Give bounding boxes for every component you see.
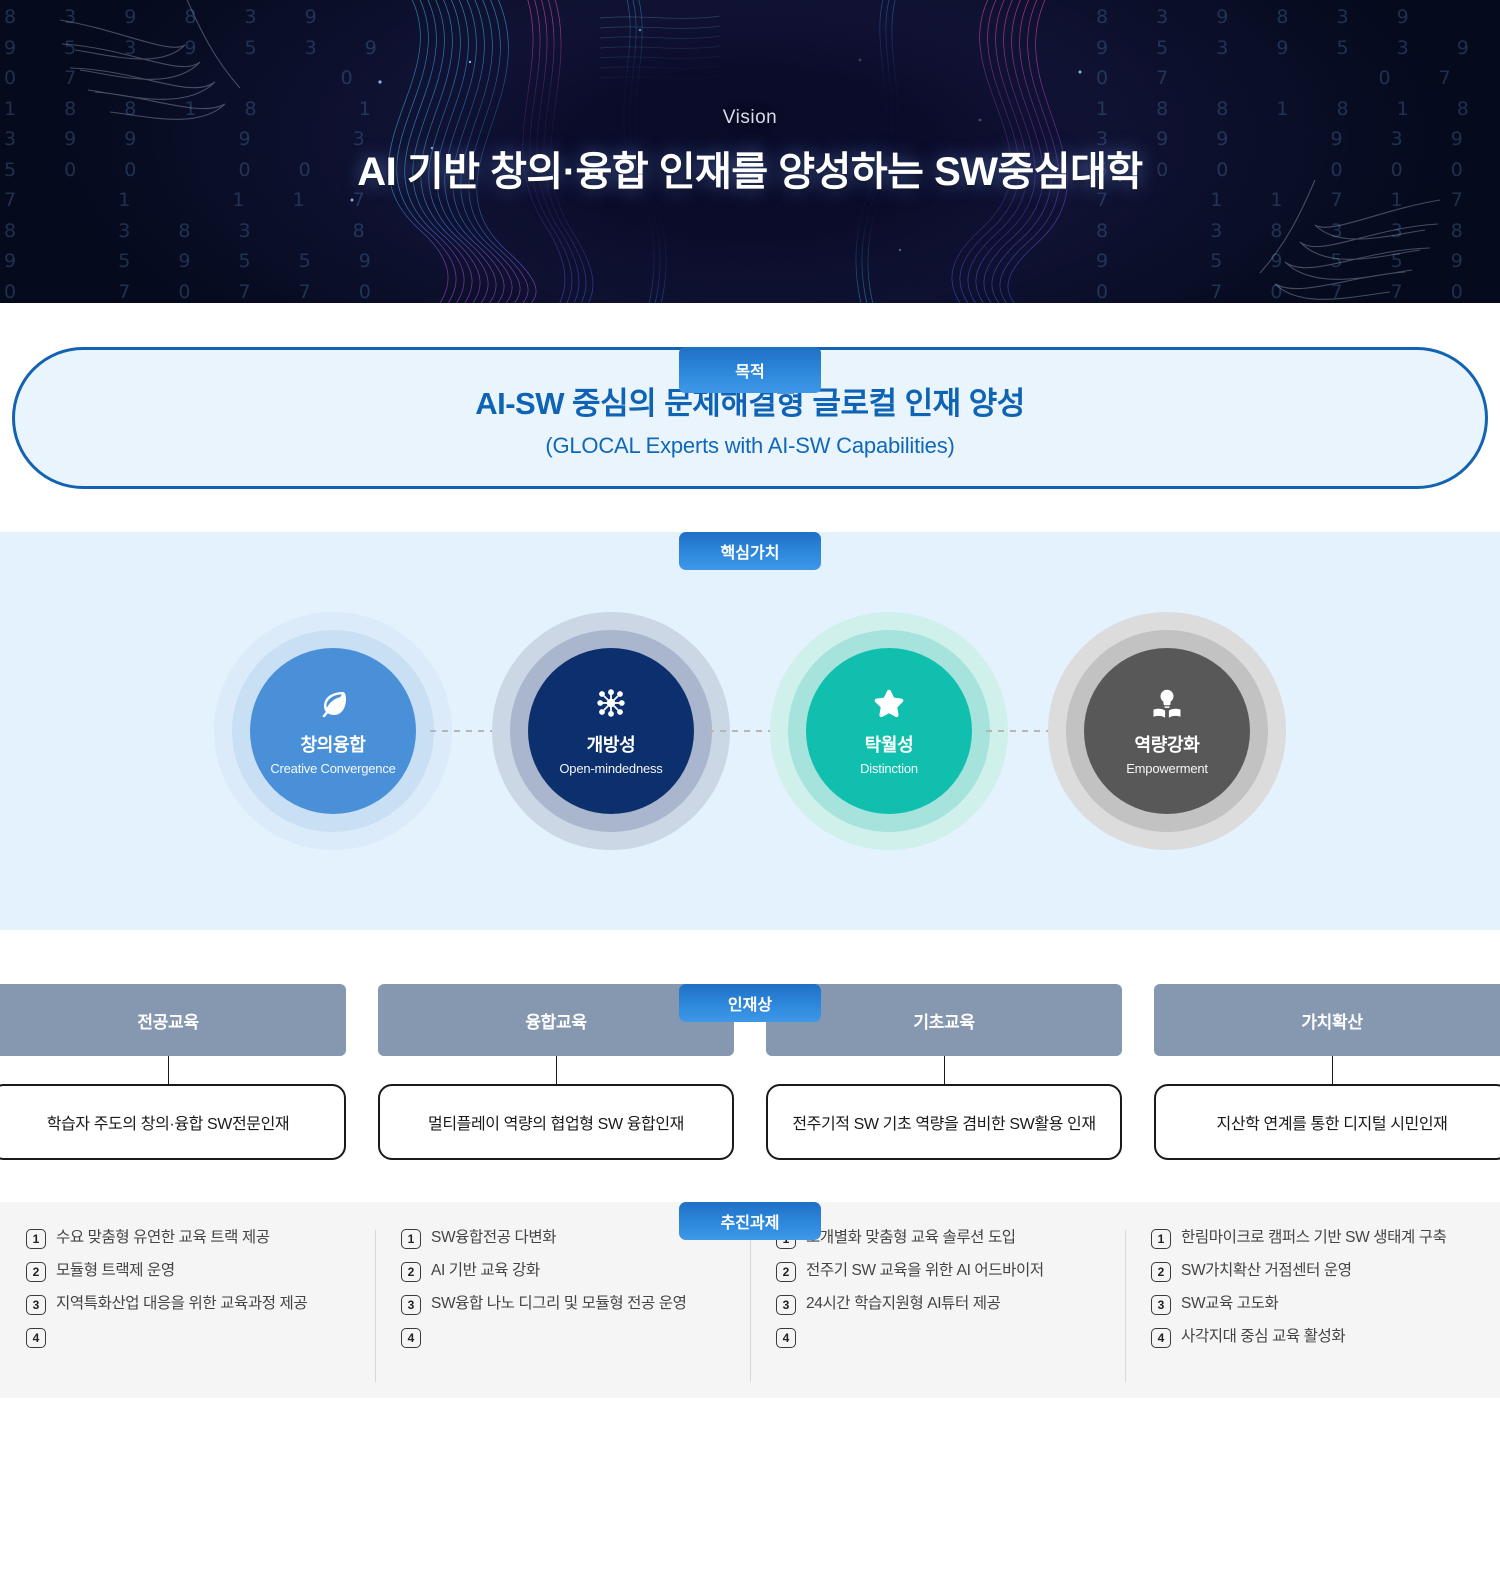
vision-kicker: Vision <box>723 107 777 129</box>
task-item[interactable]: 2SW가치확산 거점센터 운영 <box>1151 1261 1474 1282</box>
task-column: 1수요 맞춤형 유연한 교육 트랙 제공2모듈형 트랙제 운영3지역특화산업 대… <box>0 1228 375 1398</box>
task-text: 초개별화 맞춤형 교육 솔루션 도입 <box>806 1228 1016 1249</box>
talent-description: 학습자 주도의 창의·융합 SW전문인재 <box>0 1084 346 1160</box>
core-value-item[interactable]: 탁월성Distinction <box>750 612 1028 850</box>
task-item[interactable]: 2전주기 SW 교육을 위한 AI 어드바이저 <box>776 1261 1099 1282</box>
talent-column: 전공교육학습자 주도의 창의·융합 SW전문인재 <box>0 984 346 1160</box>
task-number-badge: 2 <box>1151 1262 1171 1282</box>
core-value-label-en: Creative Convergence <box>270 761 395 776</box>
talent-description: 멀티플레이 역량의 협업형 SW 융합인재 <box>378 1084 734 1160</box>
core-value-circle[interactable]: 탁월성Distinction <box>806 648 972 814</box>
talent-connector-line <box>944 1056 945 1084</box>
core-value-label-ko: 탁월성 <box>865 731 914 757</box>
leaf-icon <box>317 686 349 720</box>
core-value-item[interactable]: 창의융합Creative Convergence <box>194 612 472 850</box>
task-number-badge: 4 <box>776 1328 796 1348</box>
task-item[interactable]: 2AI 기반 교육 강화 <box>401 1261 724 1282</box>
task-text: 모듈형 트랙제 운영 <box>56 1261 175 1282</box>
core-value-inner-halo: 창의융합Creative Convergence <box>232 630 434 832</box>
task-number-badge: 2 <box>776 1262 796 1282</box>
core-value-outer-halo: 창의융합Creative Convergence <box>214 612 452 850</box>
talent-connector-line <box>168 1056 169 1084</box>
task-text: 사각지대 중심 교육 활성화 <box>1181 1327 1345 1348</box>
core-value-label-ko: 개방성 <box>587 731 636 757</box>
task-text: SW교육 고도화 <box>1181 1294 1278 1315</box>
core-value-label-ko: 역량강화 <box>1134 731 1199 757</box>
talent-column: 가치확산지산학 연계를 통한 디지털 시민인재 <box>1154 984 1500 1160</box>
core-values-section: 핵심가치 창의융합Creative Convergence개방성Open-min… <box>0 532 1500 930</box>
talent-section: 인재상 전공교육학습자 주도의 창의·융합 SW전문인재융합교육멀티플레이 역량… <box>0 984 1500 1160</box>
core-value-label-en: Empowerment <box>1126 761 1208 776</box>
talent-tab[interactable]: 인재상 <box>679 984 821 1022</box>
core-value-outer-halo: 탁월성Distinction <box>770 612 1008 850</box>
task-column: 1한림마이크로 캠퍼스 기반 SW 생태계 구축2SW가치확산 거점센터 운영3… <box>1125 1228 1500 1398</box>
core-value-circle[interactable]: 역량강화Empowerment <box>1084 648 1250 814</box>
talent-description: 전주기적 SW 기초 역량을 겸비한 SW활용 인재 <box>766 1084 1122 1160</box>
task-item[interactable]: 3지역특화산업 대응을 위한 교육과정 제공 <box>26 1294 349 1315</box>
task-text: 수요 맞춤형 유연한 교육 트랙 제공 <box>56 1228 270 1249</box>
task-text: 24시간 학습지원형 AI튜터 제공 <box>806 1294 1000 1315</box>
task-number-badge: 2 <box>401 1262 421 1282</box>
task-text: SW가치확산 거점센터 운영 <box>1181 1261 1352 1282</box>
core-value-label-ko: 창의융합 <box>300 731 365 757</box>
task-number-badge: 3 <box>26 1295 46 1315</box>
core-value-outer-halo: 개방성Open-mindedness <box>492 612 730 850</box>
task-number-badge: 3 <box>401 1295 421 1315</box>
task-item[interactable]: 3SW교육 고도화 <box>1151 1294 1474 1315</box>
task-number-badge: 1 <box>1151 1229 1171 1249</box>
core-values-panel: 창의융합Creative Convergence개방성Open-mindedne… <box>0 532 1500 930</box>
task-item[interactable]: 3SW융합 나노 디그리 및 모듈형 전공 운영 <box>401 1294 724 1315</box>
task-column: 1SW융합전공 다변화2AI 기반 교육 강화3SW융합 나노 디그리 및 모듈… <box>375 1228 750 1398</box>
core-value-circle[interactable]: 개방성Open-mindedness <box>528 648 694 814</box>
task-text: SW융합 나노 디그리 및 모듈형 전공 운영 <box>431 1294 687 1315</box>
task-item[interactable]: 2모듈형 트랙제 운영 <box>26 1261 349 1282</box>
task-item[interactable]: 4 <box>401 1327 724 1348</box>
task-item[interactable]: 1SW융합전공 다변화 <box>401 1228 724 1249</box>
core-value-label-en: Distinction <box>860 761 918 776</box>
task-text: 지역특화산업 대응을 위한 교육과정 제공 <box>56 1294 307 1315</box>
task-text: SW융합전공 다변화 <box>431 1228 556 1249</box>
task-column: 1초개별화 맞춤형 교육 솔루션 도입2전주기 SW 교육을 위한 AI 어드바… <box>750 1228 1125 1398</box>
star-icon <box>872 686 906 720</box>
purpose-section: 목적 AI-SW 중심의 문제해결형 글로컬 인재 양성 (GLOCAL Exp… <box>0 347 1500 489</box>
core-value-label-en: Open-mindedness <box>559 761 662 776</box>
task-number-badge: 4 <box>1151 1328 1171 1348</box>
task-number-badge: 4 <box>26 1328 46 1348</box>
task-text: AI 기반 교육 강화 <box>431 1261 540 1282</box>
task-number-badge: 2 <box>26 1262 46 1282</box>
network-hub-icon <box>595 686 627 720</box>
tasks-section: 추진과제 1수요 맞춤형 유연한 교육 트랙 제공2모듈형 트랙제 운영3지역특… <box>0 1202 1500 1398</box>
task-item[interactable]: 4사각지대 중심 교육 활성화 <box>1151 1327 1474 1348</box>
core-value-inner-halo: 개방성Open-mindedness <box>510 630 712 832</box>
purpose-tab[interactable]: 목적 <box>679 347 821 393</box>
core-value-circle[interactable]: 창의융합Creative Convergence <box>250 648 416 814</box>
core-value-inner-halo: 탁월성Distinction <box>788 630 990 832</box>
task-item[interactable]: 1수요 맞춤형 유연한 교육 트랙 제공 <box>26 1228 349 1249</box>
vision-title: AI 기반 창의·융합 인재를 양성하는 SW중심대학 <box>357 139 1142 197</box>
task-number-badge: 1 <box>401 1229 421 1249</box>
task-number-badge: 1 <box>26 1229 46 1249</box>
core-values-tab[interactable]: 핵심가치 <box>679 532 821 570</box>
lightbulb-book-icon <box>1151 686 1183 720</box>
talent-description: 지산학 연계를 통한 디지털 시민인재 <box>1154 1084 1500 1160</box>
purpose-sub-text: (GLOCAL Experts with AI-SW Capabilities) <box>545 433 954 459</box>
core-value-inner-halo: 역량강화Empowerment <box>1066 630 1268 832</box>
task-text: 전주기 SW 교육을 위한 AI 어드바이저 <box>806 1261 1044 1282</box>
task-item[interactable]: 4 <box>26 1327 349 1348</box>
tasks-tab[interactable]: 추진과제 <box>679 1202 821 1240</box>
core-value-outer-halo: 역량강화Empowerment <box>1048 612 1286 850</box>
talent-header[interactable]: 전공교육 <box>0 984 346 1056</box>
task-item[interactable]: 1초개별화 맞춤형 교육 솔루션 도입 <box>776 1228 1099 1249</box>
vision-banner: 8 3 9 8 3 9 9 5 3 9 5 3 9 0 7 0 1 8 8 1 … <box>0 0 1500 303</box>
core-value-item[interactable]: 개방성Open-mindedness <box>472 612 750 850</box>
talent-connector-line <box>1332 1056 1333 1084</box>
task-text: 한림마이크로 캠퍼스 기반 SW 생태계 구축 <box>1181 1228 1446 1249</box>
task-number-badge: 3 <box>776 1295 796 1315</box>
talent-header[interactable]: 가치확산 <box>1154 984 1500 1056</box>
talent-connector-line <box>556 1056 557 1084</box>
core-values-row: 창의융합Creative Convergence개방성Open-mindedne… <box>194 612 1306 850</box>
task-item[interactable]: 1한림마이크로 캠퍼스 기반 SW 생태계 구축 <box>1151 1228 1474 1249</box>
core-value-item[interactable]: 역량강화Empowerment <box>1028 612 1306 850</box>
task-item[interactable]: 324시간 학습지원형 AI튜터 제공 <box>776 1294 1099 1315</box>
task-number-badge: 3 <box>1151 1295 1171 1315</box>
task-item[interactable]: 4 <box>776 1327 1099 1348</box>
task-number-badge: 4 <box>401 1328 421 1348</box>
